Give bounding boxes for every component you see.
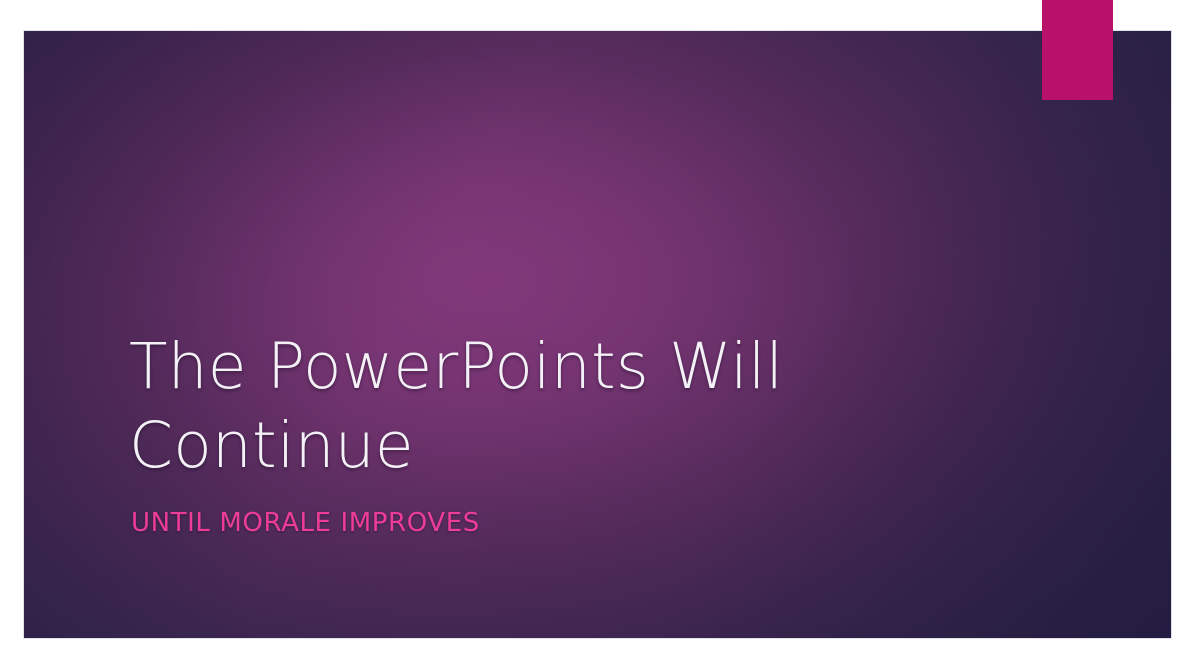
slide-subtitle[interactable]: UNTIL MORALE IMPROVES (131, 507, 1029, 539)
slide-surface[interactable]: The PowerPoints Will Continue UNTIL MORA… (24, 31, 1171, 638)
slide-title[interactable]: The PowerPoints Will Continue (129, 327, 1029, 485)
accent-rectangle (1042, 0, 1113, 100)
slide-canvas: The PowerPoints Will Continue UNTIL MORA… (0, 0, 1200, 670)
slide-text-block: The PowerPoints Will Continue UNTIL MORA… (129, 327, 1029, 539)
